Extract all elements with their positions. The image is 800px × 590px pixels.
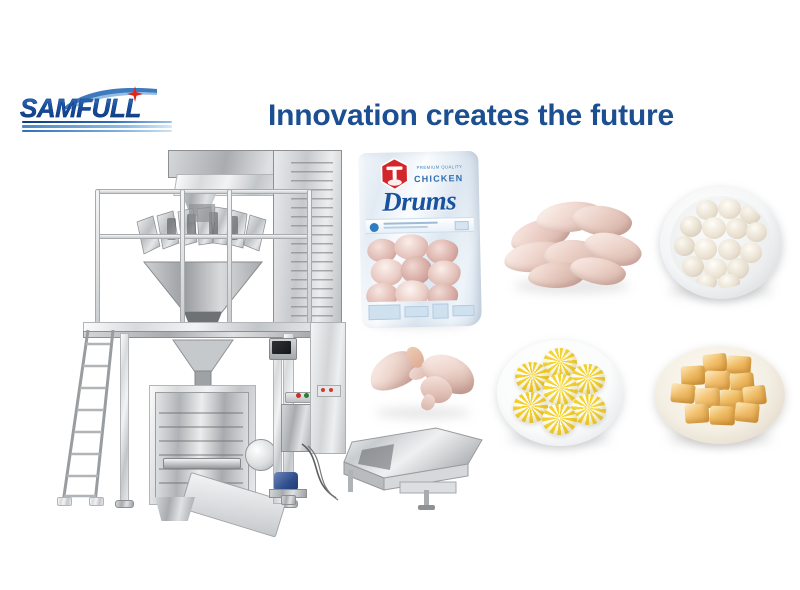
raw-chicken-wings-photo <box>498 190 648 308</box>
bag-premium-text: PREMIUM QUALITY <box>404 164 474 170</box>
raw-chicken-drumsticks-photo <box>365 345 485 423</box>
collection-funnel <box>142 260 264 322</box>
platform-leg-left <box>120 333 129 505</box>
motor-foot <box>281 495 296 505</box>
fried-tofu-cubes-plate-photo <box>655 342 785 454</box>
cabinet-indicator-red2 <box>329 388 333 392</box>
infeed-vibratory-hopper <box>340 420 490 510</box>
ladder-foot-l <box>57 497 72 506</box>
platform-railing-post-rr <box>307 189 312 331</box>
bag-footer-info <box>368 303 474 323</box>
forming-funnel <box>169 338 237 392</box>
packaged-chicken-drums-bag: PREMIUM QUALITY CHICKEN Drums <box>360 152 480 327</box>
packaging-machine-photo <box>45 142 365 524</box>
start-button[interactable] <box>304 393 309 398</box>
vffs-crossbars <box>159 404 243 484</box>
platform-railing-post-m <box>180 189 185 331</box>
vffs-sealing-jaw <box>163 458 241 469</box>
platform-railing-mid <box>95 234 312 239</box>
output-bin <box>155 497 195 521</box>
bag-info-strip <box>366 217 474 234</box>
platform-railing-top <box>95 189 312 194</box>
logo-underline-bars <box>22 121 172 132</box>
headline-text: Innovation creates the future <box>268 95 738 137</box>
white-meatballs-bowl-photo <box>660 185 782 307</box>
banner-canvas: SAMFULL Innovation creates the future <box>0 0 800 590</box>
emergency-stop-button[interactable] <box>296 393 301 398</box>
platform-railing-post-r <box>227 189 232 331</box>
yellow-ball <box>542 404 577 435</box>
bag-drums-text: Drums <box>367 187 472 216</box>
hmi-screen[interactable] <box>272 341 291 354</box>
cabinet-indicator-red <box>321 388 325 392</box>
bag-contents-chicken-pieces <box>364 233 477 302</box>
z-elevator-rungs <box>291 162 333 327</box>
cable-run <box>300 442 340 502</box>
leg-foot-left <box>115 500 134 508</box>
samfull-logo[interactable]: SAMFULL <box>20 88 175 136</box>
access-ladder <box>55 328 117 503</box>
yellow-striped-balls-bowl-photo <box>495 340 625 456</box>
platform-railing-post-l <box>95 189 100 331</box>
logo-wordmark: SAMFULL <box>20 94 175 122</box>
ladder-foot-r <box>89 497 104 506</box>
bag-chicken-text: CHICKEN <box>403 173 475 185</box>
